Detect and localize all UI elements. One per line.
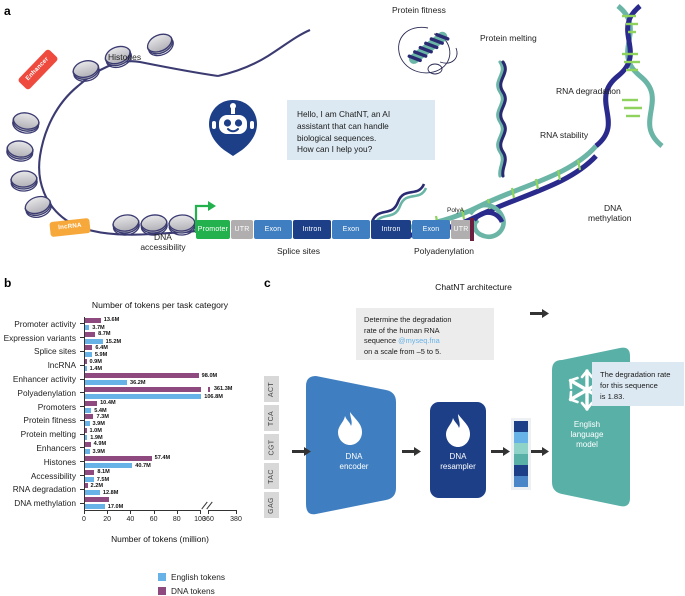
category-label-8: Protein melting bbox=[0, 429, 76, 439]
x-tick-label-1: 20 bbox=[97, 516, 117, 523]
category-label-7: Protein fitness bbox=[0, 415, 76, 425]
bar-value-english-8: 1.9M bbox=[90, 435, 102, 441]
bar-english-5 bbox=[85, 394, 201, 399]
prompt-box: Determine the degradation rate of the hu… bbox=[356, 308, 494, 360]
dna-encoder-label-line-2: encoder bbox=[324, 462, 384, 472]
axis-break-mark-2 bbox=[206, 502, 212, 510]
prompt-line-2: rate of the human RNA bbox=[364, 326, 486, 337]
category-label-11: Accessibility bbox=[0, 471, 76, 481]
gene-box-promoter: Promoter bbox=[196, 220, 230, 239]
bar-english-3 bbox=[85, 366, 87, 371]
y-tick-6 bbox=[80, 406, 84, 407]
label-dna-methylation-line2: methylation bbox=[588, 213, 631, 223]
bar-value-english-6: 5.4M bbox=[94, 408, 106, 414]
chromatin-fibre-top bbox=[218, 30, 310, 76]
bar-value-english-0: 3.7M bbox=[92, 325, 104, 331]
arrow-prompt-to-llm bbox=[530, 309, 549, 318]
answer-line-2: for this sequence bbox=[600, 380, 676, 391]
arrow-resampler-to-tokens bbox=[491, 447, 510, 456]
category-label-13: DNA methylation bbox=[0, 498, 76, 508]
bar-english-2 bbox=[85, 352, 92, 357]
bar-dna-10 bbox=[85, 456, 152, 461]
bar-english-12 bbox=[85, 490, 100, 495]
category-label-1: Expression variants bbox=[0, 333, 76, 343]
chat-line-2: assistant that can handle bbox=[297, 121, 425, 133]
prompt-line-3-pre: sequence bbox=[364, 336, 398, 345]
gene-box-exon-3-label: Exon bbox=[423, 226, 440, 233]
token-cell-1 bbox=[514, 432, 528, 443]
token-cell-0 bbox=[514, 421, 528, 432]
dna-encoder-label: DNA encoder bbox=[324, 452, 384, 472]
bar-value-dna-3: 0.9M bbox=[90, 359, 102, 365]
chat-bubble: Hello, I am ChatNT, an AI assistant that… bbox=[287, 100, 435, 160]
bar-english-13 bbox=[85, 504, 105, 509]
label-rna-stability: RNA stability bbox=[540, 130, 588, 140]
bar-value-dna-12: 2.2M bbox=[91, 483, 103, 489]
bar-value-english-1: 15.2M bbox=[106, 339, 122, 345]
y-tick-12 bbox=[80, 489, 84, 490]
bar-value-english-9: 3.9M bbox=[93, 449, 105, 455]
english-language-model-label: English language model bbox=[557, 420, 617, 450]
bar-value-english-3: 1.4M bbox=[90, 366, 102, 372]
x-tick-mark-3 bbox=[154, 510, 155, 514]
bar-dna-8 bbox=[85, 428, 87, 433]
x-tick-mark-1 bbox=[107, 510, 108, 514]
gene-box-utr-right: UTR bbox=[451, 220, 471, 239]
bar-value-english-11: 7.5M bbox=[97, 477, 109, 483]
gene-box-exon-2: Exon bbox=[332, 220, 370, 239]
bar-value-dna-5: 361.3M bbox=[214, 386, 233, 392]
label-protein-melting: Protein melting bbox=[480, 33, 537, 43]
category-label-6: Promoters bbox=[0, 402, 76, 412]
label-dna-accessibility-line2: accessibility bbox=[124, 242, 202, 252]
bar-english-0 bbox=[85, 325, 89, 330]
prompt-line-4: on a scale from –5 to 5. bbox=[364, 347, 486, 358]
bar-value-english-5: 106.8M bbox=[204, 394, 223, 400]
x-tick-mark-4 bbox=[177, 510, 178, 514]
x-tick-label-2: 40 bbox=[120, 516, 140, 523]
x-tick-mark-6 bbox=[208, 510, 209, 514]
category-label-5: Polyadenylation bbox=[0, 388, 76, 398]
legend-item-dna-tokens: DNA tokens bbox=[158, 586, 215, 596]
category-label-0: Promoter activity bbox=[0, 319, 76, 329]
chatbot-robot-icon bbox=[207, 98, 259, 156]
label-dna-accessibility-line1: DNA bbox=[133, 232, 193, 242]
legend-swatch-dna bbox=[158, 587, 166, 595]
dna-encoder-shape bbox=[306, 376, 396, 514]
protein-structure-icon bbox=[399, 27, 457, 74]
y-tick-2 bbox=[80, 351, 84, 352]
prompt-line-1: Determine the degradation bbox=[364, 315, 486, 326]
bar-value-english-4: 36.2M bbox=[130, 380, 146, 386]
polya-marker bbox=[470, 218, 474, 241]
nascent-transcript bbox=[372, 184, 424, 222]
x-axis-line-right bbox=[208, 510, 236, 511]
token-cell-4 bbox=[514, 465, 528, 476]
chat-line-1: Hello, I am ChatNT, an AI bbox=[297, 109, 425, 121]
category-label-10: Histones bbox=[0, 457, 76, 467]
dna-resampler-label: DNA resampler bbox=[428, 452, 488, 472]
llm-label-line-3: model bbox=[557, 440, 617, 450]
y-tick-0 bbox=[80, 323, 84, 324]
bar-value-english-13: 17.0M bbox=[108, 504, 124, 510]
gene-box-utr-right-label: UTR bbox=[454, 226, 469, 233]
dna-encoder-label-line-1: DNA bbox=[324, 452, 384, 462]
category-label-2: Splice sites bbox=[0, 346, 76, 356]
bar-value-dna-11: 8.1M bbox=[97, 469, 109, 475]
bar-value-dna-1: 8.7M bbox=[98, 331, 110, 337]
dna-resampler-label-line-2: resampler bbox=[428, 462, 488, 472]
label-rna-degradation: RNA degradation bbox=[556, 86, 621, 96]
tss-arrowhead bbox=[208, 201, 216, 211]
arrow-tokens-to-llm bbox=[530, 447, 549, 456]
bar-value-english-2: 5.9M bbox=[95, 352, 107, 358]
token-cell-2 bbox=[514, 443, 528, 454]
x-axis-title: Number of tokens (million) bbox=[60, 534, 260, 544]
bar-english-9 bbox=[85, 449, 90, 454]
bar-value-dna-2: 6.4M bbox=[95, 345, 107, 351]
bar-dna-4 bbox=[85, 373, 199, 378]
bar-value-dna-8: 1.0M bbox=[90, 428, 102, 434]
bar-chart-plot-area: 13.6M3.7M8.7M15.2M6.4M5.9M0.9M1.4M98.0M3… bbox=[84, 317, 236, 510]
label-splice-sites: Splice sites bbox=[277, 246, 320, 256]
bar-english-7 bbox=[85, 421, 90, 426]
category-label-12: RNA degradation bbox=[0, 484, 76, 494]
y-tick-8 bbox=[80, 434, 84, 435]
token-cell-3 bbox=[514, 454, 528, 465]
legend-label-dna: DNA tokens bbox=[171, 586, 215, 596]
answer-box: The degradation rate for this sequence i… bbox=[592, 362, 684, 406]
rna-strand-icon bbox=[498, 62, 506, 176]
bar-value-dna-10: 57.4M bbox=[155, 455, 171, 461]
x-tick-label-7: 380 bbox=[226, 516, 246, 523]
x-axis-line-left bbox=[84, 510, 200, 511]
bar-value-english-10: 40.7M bbox=[135, 463, 151, 469]
bar-dna-9 bbox=[85, 442, 91, 447]
y-tick-4 bbox=[80, 379, 84, 380]
y-tick-5 bbox=[80, 392, 84, 393]
bar-dna-6 bbox=[85, 401, 97, 406]
answer-line-3: is 1.83. bbox=[600, 391, 676, 402]
x-tick-mark-7 bbox=[236, 510, 237, 514]
x-tick-mark-0 bbox=[84, 510, 85, 514]
y-tick-9 bbox=[80, 447, 84, 448]
chat-line-3: biological sequences. bbox=[297, 133, 425, 145]
x-tick-mark-5 bbox=[200, 510, 201, 514]
bar-english-11 bbox=[85, 477, 94, 482]
bar-dna-7 bbox=[85, 414, 93, 419]
gene-box-exon-1: Exon bbox=[254, 220, 292, 239]
label-polyadenylation: Polyadenylation bbox=[414, 246, 474, 256]
gene-box-intron-1-label: Intron bbox=[302, 226, 321, 233]
bar-english-10 bbox=[85, 463, 132, 468]
chart-title: Number of tokens per task category bbox=[60, 300, 260, 310]
label-dna-methylation-line1: DNA bbox=[604, 203, 622, 213]
bar-dna-3 bbox=[85, 359, 87, 364]
panel-b: b Number of tokens per task category 13.… bbox=[0, 272, 262, 559]
gene-box-intron-1: Intron bbox=[293, 220, 331, 239]
x-tick-label-0: 0 bbox=[74, 516, 94, 523]
tag-lncrna-label: lncRNA bbox=[58, 223, 82, 232]
answer-line-1: The degradation rate bbox=[600, 369, 676, 380]
arrow-encoder-to-resampler bbox=[402, 447, 421, 456]
bar-dna-12 bbox=[85, 483, 88, 488]
legend-label-english: English tokens bbox=[171, 572, 225, 582]
x-tick-label-3: 60 bbox=[144, 516, 164, 523]
token-embedding-strip bbox=[511, 418, 531, 490]
category-label-9: Enhancers bbox=[0, 443, 76, 453]
bar-english-4 bbox=[85, 380, 127, 385]
y-tick-3 bbox=[80, 365, 84, 366]
bar-value-dna-6: 10.4M bbox=[100, 400, 116, 406]
bar-english-6 bbox=[85, 408, 91, 413]
gene-box-promoter-label: Promoter bbox=[198, 226, 228, 233]
bar-value-english-12: 12.8M bbox=[103, 490, 119, 496]
gene-box-exon-2-label: Exon bbox=[343, 226, 360, 233]
bar-value-dna-9: 4.9M bbox=[94, 441, 106, 447]
y-tick-13 bbox=[80, 503, 84, 504]
gene-box-intron-2-label: Intron bbox=[381, 226, 400, 233]
bar-value-dna-4: 98.0M bbox=[202, 373, 218, 379]
y-tick-1 bbox=[80, 337, 84, 338]
dna-resampler-label-line-1: DNA bbox=[428, 452, 488, 462]
category-label-4: Enhancer activity bbox=[0, 374, 76, 384]
bar-dna-0 bbox=[85, 318, 101, 323]
bar-value-dna-0: 13.6M bbox=[104, 317, 120, 323]
bar-dna-13 bbox=[85, 497, 109, 502]
y-tick-11 bbox=[80, 475, 84, 476]
chat-line-4: How can I help you? bbox=[297, 144, 425, 156]
x-tick-label-6: 360 bbox=[198, 516, 218, 523]
bar-value-dna-7: 7.3M bbox=[96, 414, 108, 420]
chromatin-fibre-left bbox=[39, 61, 218, 234]
gene-box-exon-3: Exon bbox=[412, 220, 450, 239]
llm-label-line-1: English bbox=[557, 420, 617, 430]
bar-english-8 bbox=[85, 435, 87, 440]
x-tick-label-4: 80 bbox=[167, 516, 187, 523]
prompt-line-3: sequence @myseq.fna bbox=[364, 336, 486, 347]
gene-box-utr-left: UTR bbox=[231, 220, 253, 239]
dna-resampler-shape bbox=[430, 402, 486, 498]
category-label-3: lncRNA bbox=[0, 360, 76, 370]
label-histones: Histones bbox=[108, 52, 141, 62]
y-tick-7 bbox=[80, 420, 84, 421]
panel-b-letter: b bbox=[4, 276, 11, 290]
bar-dna-11 bbox=[85, 470, 94, 475]
gene-box-intron-2: Intron bbox=[371, 220, 411, 239]
gene-box-exon-1-label: Exon bbox=[265, 226, 282, 233]
token-cell-5 bbox=[514, 476, 528, 487]
y-tick-10 bbox=[80, 461, 84, 462]
legend-swatch-english bbox=[158, 573, 166, 581]
gene-box-utr-left-label: UTR bbox=[235, 226, 250, 233]
bar-dna-5-right bbox=[208, 387, 210, 392]
bar-dna-2 bbox=[85, 345, 92, 350]
bar-value-english-7: 3.9M bbox=[93, 421, 105, 427]
llm-label-line-2: language bbox=[557, 430, 617, 440]
bar-english-1 bbox=[85, 339, 103, 344]
prompt-sequence-reference: @myseq.fna bbox=[398, 336, 440, 345]
label-polya: PolyA bbox=[447, 207, 464, 214]
bar-dna-1 bbox=[85, 332, 95, 337]
label-protein-fitness: Protein fitness bbox=[392, 5, 446, 15]
panel-c: c ChatNT architecture ACTTCACGTTACGAG bbox=[262, 272, 685, 559]
legend-item-english-tokens: English tokens bbox=[158, 572, 225, 582]
bar-dna-5 bbox=[85, 387, 201, 392]
panel-a: a bbox=[0, 0, 685, 272]
x-tick-mark-2 bbox=[130, 510, 131, 514]
